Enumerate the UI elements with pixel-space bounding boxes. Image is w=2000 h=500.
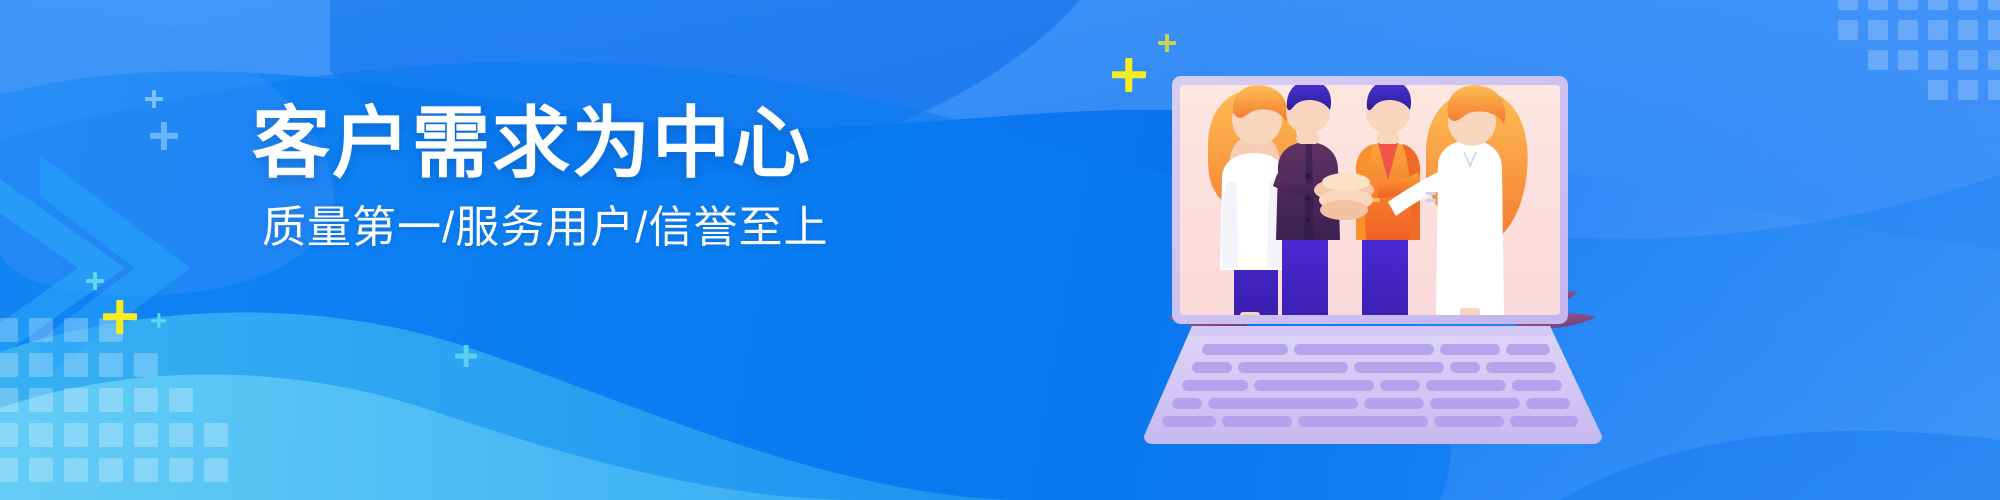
wave-bottom-cyan-1 (0, 312, 1010, 500)
promo-banner: 客户需求为中心 质量第一/服务用户/信誉至上 (0, 0, 2000, 500)
plus-light-upper-icon (145, 90, 163, 108)
wave-bottom-cyan-2 (0, 374, 860, 500)
headline-text: 客户需求为中心 (252, 104, 812, 182)
plus-cyan-bottom-tall-icon (86, 272, 104, 290)
plus-yellow-bottom-icon (103, 300, 137, 334)
team-scene (1208, 80, 1528, 325)
chevron-inner-icon (0, 172, 125, 364)
plus-cyan-center-icon (455, 345, 477, 367)
joined-hands (1314, 173, 1374, 220)
chevron-outer-icon (40, 155, 190, 381)
laptop-teamwork-illustration (1130, 40, 1630, 460)
subtitle-text: 质量第一/服务用户/信誉至上 (262, 206, 828, 250)
plus-cyan-bottom-small-icon (151, 313, 166, 328)
plus-light-mid-icon (150, 122, 178, 150)
laptop-hinge (1188, 326, 1554, 336)
